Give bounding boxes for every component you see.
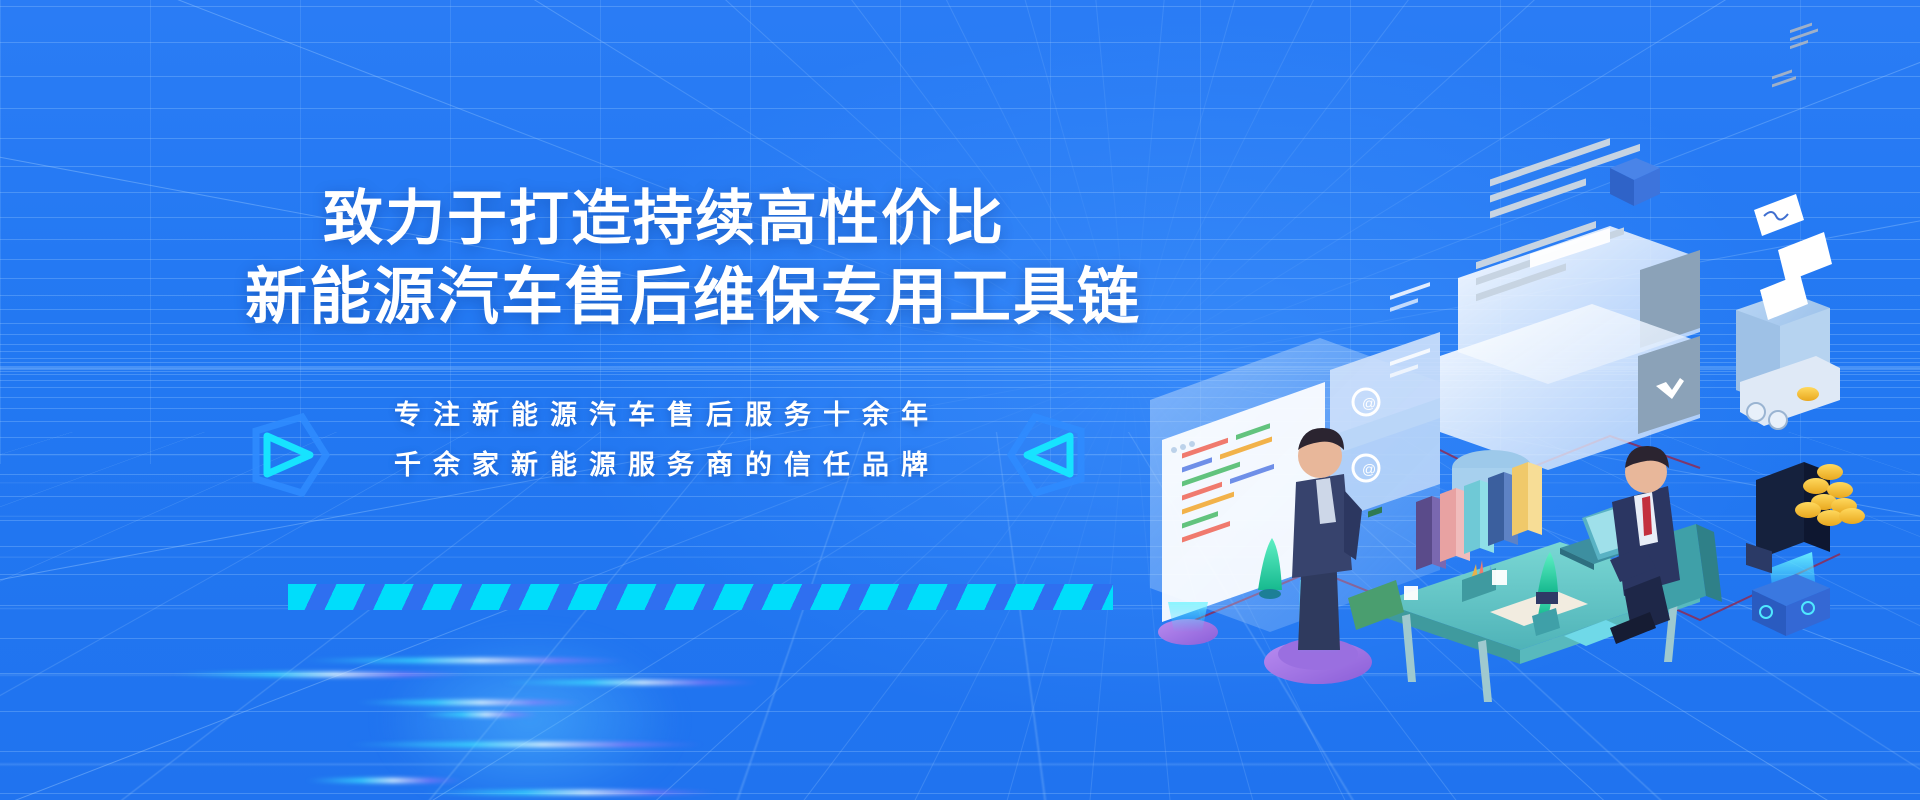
hero-copy: 致力于打造持续高性价比 新能源汽车售后维保专用工具链 专注新能源汽车售后服务十余… [245,180,1045,511]
subtitle-line-2: 千余家新能源服务商的信任品牌 [287,441,1047,491]
light-streak [420,712,540,717]
plant-pot [1536,592,1558,604]
white-cube [1492,570,1507,585]
light-streak [355,700,585,705]
headline-line-1: 致力于打造持续高性价比 [245,180,1045,258]
headline-line-2: 新能源汽车售后维保专用工具链 [245,258,1045,339]
light-streak [305,778,465,783]
isometric-office-illustration: @ @ [1140,150,1900,710]
play-triangle-left-icon [1005,409,1097,501]
light-streak [300,658,630,663]
play-triangle-right-icon [240,409,332,501]
subtitle-block: 专注新能源汽车售后服务十余年 千余家新能源服务商的信任品牌 [245,391,1085,511]
subtitle-line-1: 专注新能源汽车售后服务十余年 [287,391,1047,441]
svg-text:@: @ [1362,461,1376,477]
device-cube [1752,574,1830,636]
floating-cube [1610,158,1660,206]
diagonal-stripe-bar [288,584,1113,610]
light-streak [500,680,760,685]
light-streak [170,672,470,677]
white-cube [1404,586,1418,600]
hero-banner: 致力于打造持续高性价比 新能源汽车售后维保专用工具链 专注新能源汽车售后服务十余… [0,0,1920,800]
light-streak [420,790,720,795]
light-streak [345,742,705,747]
svg-text:@: @ [1362,395,1376,411]
